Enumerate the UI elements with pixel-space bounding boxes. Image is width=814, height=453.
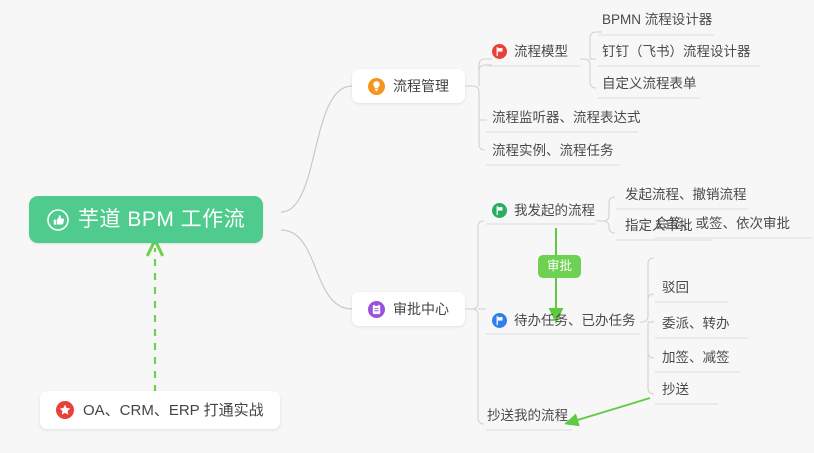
- node-cc-label: 抄送: [662, 383, 689, 397]
- node-todo-done-tasks-label: 待办任务、已办任务: [514, 314, 636, 328]
- node-process-management[interactable]: 流程管理: [352, 69, 465, 103]
- node-cc[interactable]: 抄送: [662, 383, 689, 403]
- wire-pm-to-model: [479, 65, 492, 71]
- node-approval-center-label: 审批中心: [393, 302, 449, 316]
- root-node[interactable]: 芋道 BPM 工作流: [29, 196, 263, 243]
- wire-ac-to-initiated: [472, 221, 484, 309]
- node-todo-done-tasks[interactable]: 待办任务、已办任务: [492, 313, 636, 334]
- node-dingtalk-feishu-designer[interactable]: 钉钉（飞书）流程设计器: [602, 45, 751, 65]
- node-dingtalk-feishu-designer-label: 钉钉（飞书）流程设计器: [602, 45, 751, 59]
- wire-root-to-approval-center: [281, 230, 352, 309]
- node-add-remove-sign-label: 加签、减签: [662, 351, 730, 365]
- wire-todo-to-countersign: [640, 258, 654, 322]
- wire-ac-to-cc-mine: [472, 309, 484, 424]
- node-bpmn-designer-label: BPMN 流程设计器: [602, 13, 712, 27]
- wire-todo-to-addsign: [648, 322, 654, 358]
- node-process-model-label: 流程模型: [514, 45, 568, 59]
- wire-init-to-assignee: [603, 221, 615, 233]
- node-start-cancel-process-label: 发起流程、撤销流程: [625, 188, 747, 202]
- node-my-initiated-process[interactable]: 我发起的流程: [492, 203, 595, 224]
- node-bpmn-designer[interactable]: BPMN 流程设计器: [602, 13, 712, 33]
- flag-icon: [492, 203, 507, 218]
- lightbulb-icon: [368, 78, 385, 95]
- node-process-instance-task[interactable]: 流程实例、流程任务: [492, 144, 614, 164]
- node-custom-process-form[interactable]: 自定义流程表单: [602, 77, 697, 97]
- wire-model-trunk: [580, 59, 596, 88]
- wire-init-to-start: [596, 197, 615, 221]
- node-my-initiated-process-label: 我发起的流程: [514, 204, 595, 218]
- node-approval-center[interactable]: 审批中心: [352, 292, 465, 326]
- wire-root-to-process-management: [281, 86, 352, 212]
- flag-icon: [492, 44, 507, 59]
- node-integration-practice-label: OA、CRM、ERP 打通实战: [83, 403, 264, 418]
- node-reject-label: 驳回: [662, 281, 689, 295]
- wire-pm-trunk: [473, 86, 485, 150]
- node-process-instance-task-label: 流程实例、流程任务: [492, 144, 614, 158]
- approval-flow-tag[interactable]: 审批: [538, 255, 581, 278]
- node-process-listener-expression-label: 流程监听器、流程表达式: [492, 111, 641, 125]
- wire-todo-to-cc: [648, 322, 654, 394]
- node-countersign-orsign-sequential[interactable]: 会签、或签、依次审批: [655, 217, 790, 237]
- mindmap-canvas: 芋道 BPM 工作流 流程管理 审批中心: [0, 0, 814, 453]
- node-start-cancel-process[interactable]: 发起流程、撤销流程: [625, 188, 747, 208]
- arrow-cc-to-cc-mine: [571, 398, 650, 422]
- node-process-management-label: 流程管理: [393, 79, 449, 93]
- node-process-listener-expression[interactable]: 流程监听器、流程表达式: [492, 111, 641, 131]
- thumbs-up-icon: [47, 209, 69, 231]
- wire-pm-branch-top: [479, 59, 492, 86]
- node-countersign-orsign-sequential-label: 会签、或签、依次审批: [655, 217, 790, 231]
- node-delegate-transfer-label: 委派、转办: [662, 317, 730, 331]
- node-integration-practice[interactable]: OA、CRM、ERP 打通实战: [40, 391, 280, 429]
- star-icon: [56, 401, 74, 419]
- flag-icon: [492, 313, 507, 328]
- node-cc-to-me-process-label: 抄送我的流程: [487, 409, 568, 423]
- node-custom-process-form-label: 自定义流程表单: [602, 77, 697, 91]
- root-label: 芋道 BPM 工作流: [78, 209, 245, 230]
- wire-model-to-bpmn: [590, 32, 602, 59]
- wire-todo-to-reject2: [648, 294, 654, 300]
- node-process-model[interactable]: 流程模型: [492, 44, 568, 65]
- node-add-remove-sign[interactable]: 加签、减签: [662, 351, 730, 371]
- clipboard-icon: [368, 301, 385, 318]
- node-delegate-transfer[interactable]: 委派、转办: [662, 317, 730, 337]
- node-cc-to-me-process[interactable]: 抄送我的流程: [487, 409, 568, 429]
- node-reject[interactable]: 驳回: [662, 281, 689, 301]
